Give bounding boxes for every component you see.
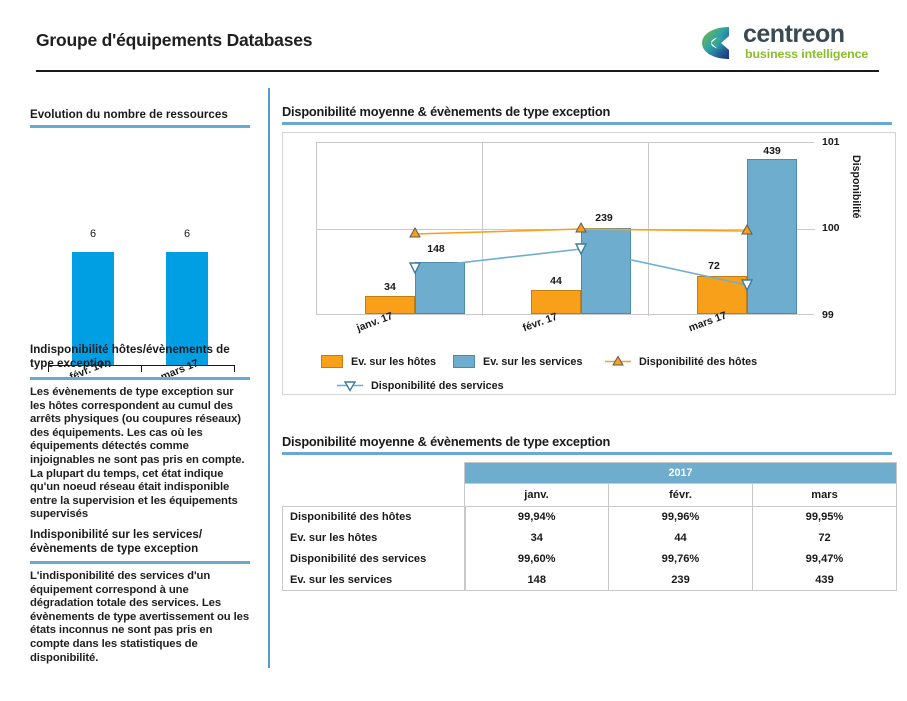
legend-item-hosts-availability[interactable]: Disponibilité des hôtes — [605, 355, 757, 368]
table-cell: 99,96% — [609, 507, 753, 528]
bar-hosts-events — [531, 290, 581, 314]
legend-label: Ev. sur les hôtes — [351, 356, 436, 368]
table-cell: 148 — [465, 570, 609, 591]
table-corner-cell — [283, 484, 465, 507]
bar-value-label: 72 — [689, 260, 739, 272]
table-cell: 44 — [609, 528, 753, 549]
chart-plot-area: 34 148 44 239 72 439 — [316, 142, 814, 315]
table-cell: 439 — [753, 570, 897, 591]
chart-section-underline — [282, 122, 892, 125]
y-axis-tick-101: 101 — [822, 136, 840, 148]
legend-item-services-availability[interactable]: Disponibilité des services — [337, 379, 504, 392]
resources-bar-value: 6 — [166, 228, 208, 240]
host-exception-title: Indisponibilité hôtes/évènements de type… — [30, 343, 250, 371]
bar-services-events — [581, 228, 631, 314]
availability-table-card: 2017 janv. févr. mars Disponibilité des … — [282, 462, 896, 591]
table-row: Ev. sur les services 148 239 439 — [283, 570, 897, 591]
legend-line-orange-triangle-up-icon — [605, 355, 631, 368]
sidebar: Evolution du nombre de ressources 6 6 fé… — [0, 84, 272, 684]
table-section-title: Disponibilité moyenne & évènements de ty… — [282, 434, 610, 449]
table-cell: 99,47% — [753, 549, 897, 570]
availability-chart: 34 148 44 239 72 439 101 100 99 Disponib… — [282, 132, 896, 395]
table-row-label: Ev. sur les hôtes — [283, 528, 465, 549]
table-cell: 239 — [609, 570, 753, 591]
table-section-underline — [282, 452, 892, 455]
bar-value-label: 239 — [579, 212, 629, 224]
legend-label: Ev. sur les services — [483, 356, 582, 368]
page-title-prefix: Groupe d'équipements — [36, 30, 222, 50]
legend-label: Disponibilité des services — [371, 380, 504, 392]
y-axis-tick-100: 100 — [822, 222, 840, 234]
table-col-header-fevr: févr. — [609, 484, 753, 507]
legend-swatch-orange — [321, 355, 343, 368]
table-cell: 99,94% — [465, 507, 609, 528]
page-header: Groupe d'équipements Databases centreon … — [0, 0, 907, 74]
table-col-header-mars: mars — [753, 484, 897, 507]
table-cell: 99,95% — [753, 507, 897, 528]
y-axis-tick-99: 99 — [822, 309, 834, 321]
page-title-group: Databases — [227, 30, 313, 50]
page-title: Groupe d'équipements Databases — [36, 30, 312, 51]
bar-value-label: 439 — [747, 145, 797, 157]
table-header-year-row: 2017 — [283, 463, 897, 484]
bar-hosts-events — [697, 276, 747, 314]
table-row: Disponibilité des services 99,60% 99,76%… — [283, 549, 897, 570]
service-exception-body: L'indisponibilité des services d'un équi… — [30, 570, 250, 665]
table-cell: 72 — [753, 528, 897, 549]
table-row-label: Ev. sur les services — [283, 570, 465, 591]
header-divider — [36, 70, 879, 72]
table-year-header: 2017 — [465, 463, 897, 484]
resources-panel-title: Evolution du nombre de ressources — [30, 108, 256, 122]
chart-gridline-horizontal — [317, 229, 815, 230]
bar-value-label: 44 — [531, 275, 581, 287]
logo-tagline: business intelligence — [745, 47, 868, 61]
centreon-c-icon — [699, 24, 737, 62]
resources-bar-value: 6 — [72, 228, 114, 240]
bar-value-label: 148 — [411, 243, 461, 255]
legend-label: Disponibilité des hôtes — [639, 356, 757, 368]
centreon-logo: centreon business intelligence — [699, 22, 881, 64]
table-row-label: Disponibilité des services — [283, 549, 465, 570]
table-col-header-janv: janv. — [465, 484, 609, 507]
host-exception-body: Les évènements de type exception sur les… — [30, 386, 250, 522]
y-axis-label: Disponibilité — [850, 155, 862, 219]
host-exception-underline — [30, 377, 250, 380]
chart-section-title: Disponibilité moyenne & évènements de ty… — [282, 104, 610, 119]
table-cell: 34 — [465, 528, 609, 549]
table-row-label: Disponibilité des hôtes — [283, 507, 465, 528]
resources-title-underline — [30, 125, 250, 128]
legend-item-hosts-events[interactable]: Ev. sur les hôtes — [321, 355, 436, 368]
logo-wordmark: centreon — [743, 20, 845, 49]
table-corner-cell — [283, 463, 465, 484]
table-row: Ev. sur les hôtes 34 44 72 — [283, 528, 897, 549]
bar-services-events — [415, 262, 465, 314]
service-exception-title: Indisponibilité sur les services/ évènem… — [30, 528, 250, 556]
legend-item-services-events[interactable]: Ev. sur les services — [453, 355, 582, 368]
table-cell: 99,76% — [609, 549, 753, 570]
availability-table: 2017 janv. févr. mars Disponibilité des … — [282, 462, 897, 591]
bar-services-events — [747, 159, 797, 314]
table-row: Disponibilité des hôtes 99,94% 99,96% 99… — [283, 507, 897, 528]
legend-swatch-blue — [453, 355, 475, 368]
service-exception-underline — [30, 561, 250, 564]
bar-value-label: 34 — [365, 281, 415, 293]
legend-line-blue-triangle-down-icon — [337, 379, 363, 392]
table-header-month-row: janv. févr. mars — [283, 484, 897, 507]
table-cell: 99,60% — [465, 549, 609, 570]
